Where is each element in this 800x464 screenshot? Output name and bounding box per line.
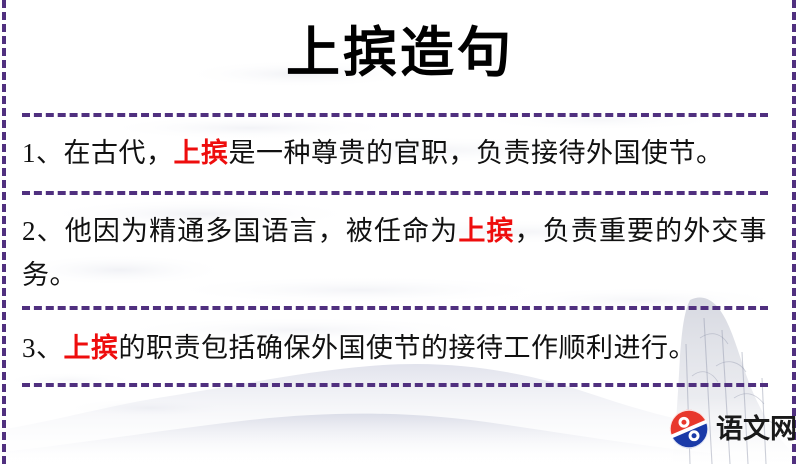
sentence-2-keyword: 上摈: [458, 216, 514, 246]
site-logo[interactable]: 语文网: [668, 408, 797, 450]
separator-4: [22, 383, 768, 387]
sentence-1-index: 1、: [22, 138, 64, 168]
separator-3: [22, 306, 768, 310]
sentence-3-keyword: 上摈: [64, 333, 119, 363]
sentence-item-1: 1、在古代，上摈是一种尊贵的官职，负责接待外国使节。: [22, 131, 767, 175]
slide-canvas: 上摈造句 1、在古代，上摈是一种尊贵的官职，负责接待外国使节。 2、他因为精通多…: [0, 0, 800, 464]
sentence-1-keyword: 上摈: [174, 138, 229, 168]
separator-1: [22, 113, 768, 117]
separator-2: [22, 191, 768, 195]
sentence-1-after: 是一种尊贵的官职，负责接待外国使节。: [229, 138, 724, 168]
sentence-2-before: 他因为精通多国语言，被任命为: [65, 216, 459, 246]
sentence-3-index: 3、: [22, 333, 64, 363]
sentence-3-after: 的职责包括确保外国使节的接待工作顺利进行。: [119, 333, 697, 363]
yuwen-circular-logo-icon: [668, 408, 710, 450]
site-logo-text: 语文网: [716, 408, 797, 450]
page-title: 上摈造句: [0, 18, 800, 88]
sentence-2-index: 2、: [22, 216, 65, 246]
sentence-1-before: 在古代，: [64, 138, 174, 168]
sentence-item-2: 2、他因为精通多国语言，被任命为上摈，负责重要的外交事务。: [22, 209, 767, 297]
sentence-item-3: 3、上摈的职责包括确保外国使节的接待工作顺利进行。: [22, 326, 767, 370]
